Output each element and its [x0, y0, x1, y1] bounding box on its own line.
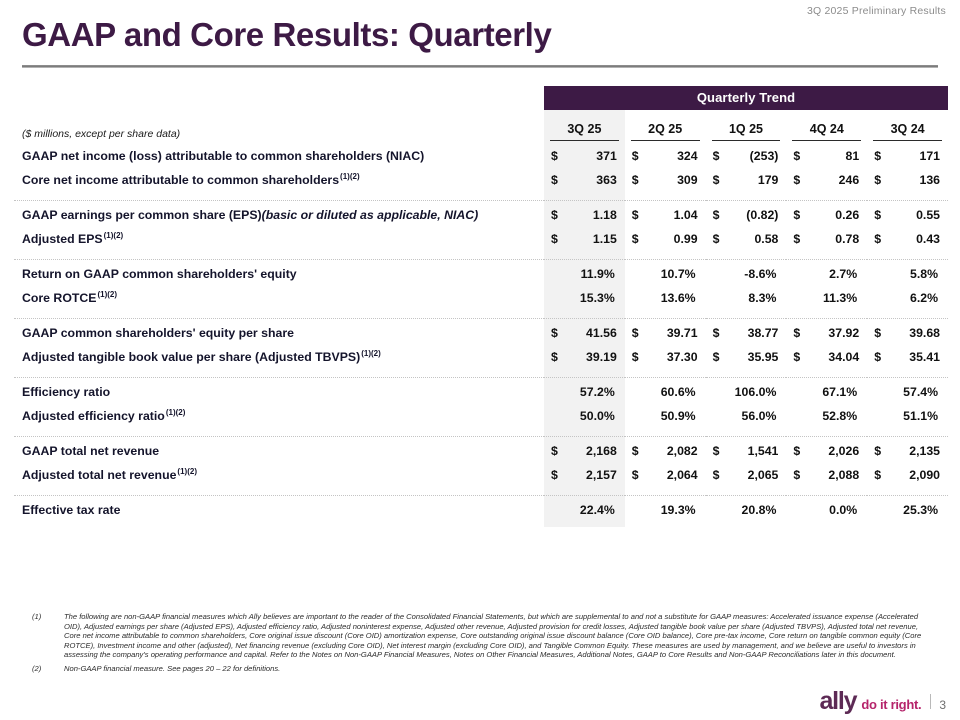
row-label-qualifier: (basic or diluted as applicable, NIAC): [262, 208, 479, 222]
table-cell: $2,064: [625, 463, 706, 487]
cell-value: 19.3%: [661, 503, 696, 517]
table-cell: -8.6%: [706, 262, 787, 286]
cell-content: $2,088: [786, 468, 867, 482]
currency-symbol: $: [874, 232, 881, 246]
cell-content: 57.2%: [544, 385, 625, 399]
footnote-2-marker: (2): [22, 664, 64, 674]
table-cell: 20.8%: [706, 498, 787, 522]
group-separator-cell: [786, 251, 867, 262]
separator-line: [786, 377, 867, 378]
cell-content: 50.0%: [544, 409, 625, 423]
cell-value: 38.77: [748, 326, 779, 340]
table-row: Effective tax rate22.4%19.3%20.8%0.0%25.…: [14, 498, 948, 522]
cell-value: 22.4%: [580, 503, 615, 517]
cell-value: 81: [846, 149, 860, 163]
table-cell: $39.19: [544, 345, 625, 369]
row-label: Return on GAAP common shareholders' equi…: [14, 262, 544, 286]
cell-content: $37.92: [786, 326, 867, 340]
cell-value: 363: [596, 173, 617, 187]
cell-value: 2.7%: [829, 267, 857, 281]
table-row: GAAP common shareholders' equity per sha…: [14, 321, 948, 345]
currency-symbol: $: [793, 149, 800, 163]
column-header-label: 3Q 24: [891, 122, 925, 136]
separator-line: [625, 259, 706, 260]
group-separator-cell: [544, 369, 625, 380]
cell-value: 67.1%: [822, 385, 857, 399]
table-cell: $37.30: [625, 345, 706, 369]
table-cell: 60.6%: [625, 380, 706, 404]
cell-content: 22.4%: [544, 503, 625, 517]
cell-value: 41.56: [586, 326, 617, 340]
table-cell: 57.4%: [867, 380, 948, 404]
currency-symbol: $: [713, 326, 720, 340]
footnote-reference: (1)(2): [104, 231, 124, 240]
cell-content: $37.30: [625, 350, 706, 364]
group-separator-cell: [14, 428, 544, 439]
cell-value: 171: [919, 149, 940, 163]
currency-symbol: $: [793, 326, 800, 340]
separator-line: [14, 436, 544, 437]
table-cell: 2.7%: [786, 262, 867, 286]
cell-content: $2,135: [867, 444, 948, 458]
table-cell: 6.2%: [867, 286, 948, 310]
table-cell: 0.0%: [786, 498, 867, 522]
table-cell: $35.95: [706, 345, 787, 369]
cell-content: $34.04: [786, 350, 867, 364]
table-row: Adjusted efficiency ratio(1)(2)50.0%50.9…: [14, 404, 948, 428]
cell-content: $324: [625, 149, 706, 163]
table-cell: $38.77: [706, 321, 787, 345]
table-cell: $363: [544, 168, 625, 192]
currency-symbol: $: [874, 173, 881, 187]
separator-line: [786, 318, 867, 319]
footnote-reference: (1)(2): [361, 349, 381, 358]
cell-content: $1,541: [706, 444, 787, 458]
cell-content: $2,082: [625, 444, 706, 458]
table-cell: $1.18: [544, 203, 625, 227]
currency-symbol: $: [632, 326, 639, 340]
cell-value: 1.18: [593, 208, 617, 222]
row-label: Adjusted tangible book value per share (…: [14, 345, 544, 369]
separator-line: [625, 318, 706, 319]
table-cell: 106.0%: [706, 380, 787, 404]
group-separator-cell: [544, 192, 625, 203]
cell-content: $371: [544, 149, 625, 163]
column-header-2q25[interactable]: 2Q 25: [625, 110, 706, 144]
footnote-reference: (1)(2): [177, 467, 197, 476]
cell-content: $2,168: [544, 444, 625, 458]
separator-line: [867, 436, 948, 437]
cell-value: 136: [919, 173, 940, 187]
separator-line: [867, 377, 948, 378]
currency-symbol: $: [551, 468, 558, 482]
footnote-reference: (1)(2): [166, 408, 186, 417]
currency-symbol: $: [632, 468, 639, 482]
column-header-rule: [712, 140, 781, 141]
currency-symbol: $: [793, 232, 800, 246]
currency-symbol: $: [551, 232, 558, 246]
cell-content: 11.9%: [544, 267, 625, 281]
table-cell: $2,090: [867, 463, 948, 487]
group-separator-cell: [786, 428, 867, 439]
cell-value: 50.0%: [580, 409, 615, 423]
column-header-label: 4Q 24: [810, 122, 844, 136]
column-header-label: 3Q 25: [567, 122, 601, 136]
cell-value: 371: [596, 149, 617, 163]
title-divider: [22, 65, 938, 68]
footnote-2-text: Non-GAAP financial measure. See pages 20…: [64, 664, 922, 674]
table-cell: $35.41: [867, 345, 948, 369]
currency-symbol: $: [632, 173, 639, 187]
separator-line: [706, 377, 787, 378]
cell-value: 2,168: [586, 444, 617, 458]
cell-content: $0.99: [625, 232, 706, 246]
table-cell: $2,026: [786, 439, 867, 463]
table-cell: 11.9%: [544, 262, 625, 286]
table-cell: $309: [625, 168, 706, 192]
cell-value: 0.0%: [829, 503, 857, 517]
separator-line: [786, 200, 867, 201]
table-row: GAAP net income (loss) attributable to c…: [14, 144, 948, 168]
row-label: Adjusted EPS(1)(2): [14, 227, 544, 251]
currency-symbol: $: [713, 208, 720, 222]
separator-line: [544, 318, 625, 319]
cell-content: 67.1%: [786, 385, 867, 399]
group-separator-cell: [14, 487, 544, 498]
currency-symbol: $: [551, 326, 558, 340]
group-separator-cell: [625, 251, 706, 262]
separator-line: [706, 200, 787, 201]
quarterly-trend-banner: Quarterly Trend: [544, 86, 948, 110]
table-cell: $2,088: [786, 463, 867, 487]
group-separator-cell: [544, 428, 625, 439]
cell-content: $0.43: [867, 232, 948, 246]
currency-symbol: $: [874, 208, 881, 222]
column-header-4q24[interactable]: 4Q 24: [786, 110, 867, 144]
group-separator-cell: [706, 487, 787, 498]
cell-content: $0.55: [867, 208, 948, 222]
column-header-rule: [550, 140, 619, 141]
table-cell: $2,135: [867, 439, 948, 463]
ally-tagline: do it right.: [861, 698, 921, 711]
currency-symbol: $: [793, 350, 800, 364]
cell-value: 0.26: [835, 208, 859, 222]
separator-line: [14, 495, 544, 496]
pad-cell: [786, 522, 867, 527]
separator-line: [786, 259, 867, 260]
cell-value: 15.3%: [580, 291, 615, 305]
currency-symbol: $: [713, 468, 720, 482]
currency-symbol: $: [713, 444, 720, 458]
cell-value: (253): [750, 149, 779, 163]
group-separator-cell: [867, 192, 948, 203]
cell-content: $171: [867, 149, 948, 163]
cell-value: 1.04: [674, 208, 698, 222]
group-separator-cell: [786, 369, 867, 380]
table-cell: $2,065: [706, 463, 787, 487]
table-cell: $0.78: [786, 227, 867, 251]
cell-value: 2,064: [667, 468, 698, 482]
table-cell: $(253): [706, 144, 787, 168]
table-cell: $2,168: [544, 439, 625, 463]
cell-value: 37.30: [667, 350, 698, 364]
column-header-label: 2Q 25: [648, 122, 682, 136]
cell-value: 57.2%: [580, 385, 615, 399]
pad-cell: [706, 522, 787, 527]
table-row: GAAP earnings per common share (EPS)(bas…: [14, 203, 948, 227]
currency-symbol: $: [551, 444, 558, 458]
currency-symbol: $: [551, 350, 558, 364]
table-cell: $34.04: [786, 345, 867, 369]
footnote-1-marker: (1): [22, 612, 64, 622]
deck-eyebrow: 3Q 2025 Preliminary Results: [807, 5, 946, 17]
group-separator-cell: [867, 310, 948, 321]
group-separator-cell: [625, 487, 706, 498]
cell-value: 179: [758, 173, 779, 187]
table-cell: 51.1%: [867, 404, 948, 428]
cell-content: $2,026: [786, 444, 867, 458]
cell-value: 2,065: [748, 468, 779, 482]
currency-symbol: $: [793, 173, 800, 187]
group-separator: [14, 369, 948, 380]
cell-content: 6.2%: [867, 291, 948, 305]
cell-value: 52.8%: [822, 409, 857, 423]
cell-value: (0.82): [746, 208, 778, 222]
table-cell: 56.0%: [706, 404, 787, 428]
ally-logo: ally do it right. 3: [819, 689, 946, 714]
cell-content: $39.71: [625, 326, 706, 340]
cell-value: 246: [839, 173, 860, 187]
separator-line: [706, 495, 787, 496]
table-cell: $0.58: [706, 227, 787, 251]
logo-divider: [930, 694, 931, 709]
cell-content: $2,065: [706, 468, 787, 482]
cell-content: $309: [625, 173, 706, 187]
footnote-1: (1) The following are non-GAAP financial…: [22, 612, 922, 660]
table-row: Return on GAAP common shareholders' equi…: [14, 262, 948, 286]
table-cell: $246: [786, 168, 867, 192]
cell-content: 2.7%: [786, 267, 867, 281]
group-separator-cell: [867, 428, 948, 439]
cell-value: 106.0%: [735, 385, 777, 399]
table-cell: 52.8%: [786, 404, 867, 428]
ally-wordmark: ally: [819, 689, 856, 714]
cell-content: $38.77: [706, 326, 787, 340]
table-header-row: ($ millions, except per share data)3Q 25…: [14, 110, 948, 144]
cell-value: 34.04: [828, 350, 859, 364]
table-cell: $39.68: [867, 321, 948, 345]
cell-value: 2,135: [909, 444, 940, 458]
pad-cell: [544, 522, 625, 527]
separator-line: [867, 495, 948, 496]
cell-value: 2,090: [909, 468, 940, 482]
table-cell: $371: [544, 144, 625, 168]
table-cell: $0.55: [867, 203, 948, 227]
cell-content: $2,157: [544, 468, 625, 482]
table-footer-pad: [14, 522, 948, 527]
separator-line: [706, 259, 787, 260]
group-separator-cell: [544, 487, 625, 498]
page-title: GAAP and Core Results: Quarterly: [22, 16, 551, 54]
group-separator-cell: [544, 310, 625, 321]
separator-line: [544, 200, 625, 201]
separator-line: [706, 318, 787, 319]
cell-content: 60.6%: [625, 385, 706, 399]
cell-content: $246: [786, 173, 867, 187]
group-separator: [14, 487, 948, 498]
currency-symbol: $: [874, 326, 881, 340]
table-cell: 15.3%: [544, 286, 625, 310]
cell-value: 0.78: [835, 232, 859, 246]
group-separator: [14, 310, 948, 321]
group-separator-cell: [706, 428, 787, 439]
table-cell: $37.92: [786, 321, 867, 345]
table-cell: 19.3%: [625, 498, 706, 522]
separator-line: [544, 259, 625, 260]
separator-line: [14, 200, 544, 201]
cell-content: $39.68: [867, 326, 948, 340]
table-cell: 25.3%: [867, 498, 948, 522]
pad-cell: [14, 522, 544, 527]
footnotes: (1) The following are non-GAAP financial…: [22, 612, 922, 678]
group-separator-cell: [867, 369, 948, 380]
currency-symbol: $: [713, 173, 720, 187]
column-header-label: 1Q 25: [729, 122, 763, 136]
cell-value: 8.3%: [748, 291, 776, 305]
cell-content: $179: [706, 173, 787, 187]
page-number: 3: [939, 699, 946, 711]
cell-value: 57.4%: [903, 385, 938, 399]
separator-line: [625, 200, 706, 201]
row-label: Core net income attributable to common s…: [14, 168, 544, 192]
column-header-3q25[interactable]: 3Q 25: [544, 110, 625, 144]
currency-symbol: $: [713, 232, 720, 246]
cell-value: 324: [677, 149, 698, 163]
table-cell: $171: [867, 144, 948, 168]
group-separator-cell: [867, 487, 948, 498]
table-cell: $81: [786, 144, 867, 168]
column-header-1q25[interactable]: 1Q 25: [706, 110, 787, 144]
banner-spacer: [14, 86, 544, 110]
cell-value: 1.15: [593, 232, 617, 246]
separator-line: [544, 436, 625, 437]
separator-line: [544, 377, 625, 378]
table-row: Adjusted total net revenue(1)(2)$2,157$2…: [14, 463, 948, 487]
row-label: Effective tax rate: [14, 498, 544, 522]
cell-value: 35.41: [909, 350, 940, 364]
currency-symbol: $: [793, 444, 800, 458]
cell-value: 2,026: [828, 444, 859, 458]
cell-content: 10.7%: [625, 267, 706, 281]
cell-value: 37.92: [828, 326, 859, 340]
cell-content: 8.3%: [706, 291, 787, 305]
table-cell: 10.7%: [625, 262, 706, 286]
cell-value: 2,088: [828, 468, 859, 482]
cell-content: 13.6%: [625, 291, 706, 305]
cell-value: 35.95: [748, 350, 779, 364]
table-cell: 5.8%: [867, 262, 948, 286]
currency-symbol: $: [632, 444, 639, 458]
cell-value: 0.58: [754, 232, 778, 246]
cell-value: 20.8%: [742, 503, 777, 517]
table-cell: $39.71: [625, 321, 706, 345]
table-cell: $1,541: [706, 439, 787, 463]
currency-symbol: $: [632, 208, 639, 222]
table-row: Adjusted tangible book value per share (…: [14, 345, 948, 369]
quarterly-results-table: Quarterly Trend($ millions, except per s…: [14, 86, 948, 527]
cell-value: 2,157: [586, 468, 617, 482]
group-separator-cell: [706, 310, 787, 321]
cell-value: 39.68: [909, 326, 940, 340]
footnote-2: (2) Non-GAAP financial measure. See page…: [22, 664, 922, 674]
currency-symbol: $: [632, 149, 639, 163]
separator-line: [625, 495, 706, 496]
table-cell: 11.3%: [786, 286, 867, 310]
currency-symbol: $: [874, 444, 881, 458]
separator-line: [867, 200, 948, 201]
cell-content: $2,090: [867, 468, 948, 482]
column-header-rule: [631, 140, 700, 141]
cell-value: 60.6%: [661, 385, 696, 399]
table-cell: $2,082: [625, 439, 706, 463]
pad-cell: [867, 522, 948, 527]
row-label: GAAP net income (loss) attributable to c…: [14, 144, 544, 168]
footnote-reference: (1)(2): [340, 172, 360, 181]
table-cell: $179: [706, 168, 787, 192]
column-header-rule: [873, 140, 942, 141]
table-row: Core net income attributable to common s…: [14, 168, 948, 192]
cell-content: 51.1%: [867, 409, 948, 423]
currency-symbol: $: [632, 232, 639, 246]
cell-content: 5.8%: [867, 267, 948, 281]
cell-value: 6.2%: [910, 291, 938, 305]
currency-symbol: $: [551, 173, 558, 187]
separator-line: [706, 436, 787, 437]
table-cell: $324: [625, 144, 706, 168]
column-header-rule: [792, 140, 861, 141]
group-separator: [14, 251, 948, 262]
cell-content: $363: [544, 173, 625, 187]
table-cell: $136: [867, 168, 948, 192]
group-separator-cell: [786, 310, 867, 321]
cell-value: 0.43: [916, 232, 940, 246]
group-separator-cell: [14, 310, 544, 321]
group-separator-cell: [867, 251, 948, 262]
units-caption: ($ millions, except per share data): [14, 110, 544, 144]
currency-symbol: $: [713, 350, 720, 364]
row-label: GAAP earnings per common share (EPS)(bas…: [14, 203, 544, 227]
column-header-3q24[interactable]: 3Q 24: [867, 110, 948, 144]
cell-content: $2,064: [625, 468, 706, 482]
cell-content: $81: [786, 149, 867, 163]
table-cell: $(0.82): [706, 203, 787, 227]
table-cell: $41.56: [544, 321, 625, 345]
table-cell: $1.04: [625, 203, 706, 227]
currency-symbol: $: [874, 468, 881, 482]
row-label: GAAP total net revenue: [14, 439, 544, 463]
cell-content: 20.8%: [706, 503, 787, 517]
cell-content: $0.78: [786, 232, 867, 246]
cell-content: $(0.82): [706, 208, 787, 222]
cell-content: 25.3%: [867, 503, 948, 517]
cell-content: $(253): [706, 149, 787, 163]
cell-content: $0.58: [706, 232, 787, 246]
table-cell: 57.2%: [544, 380, 625, 404]
cell-value: 0.55: [916, 208, 940, 222]
group-separator-cell: [14, 192, 544, 203]
cell-content: 11.3%: [786, 291, 867, 305]
separator-line: [786, 436, 867, 437]
